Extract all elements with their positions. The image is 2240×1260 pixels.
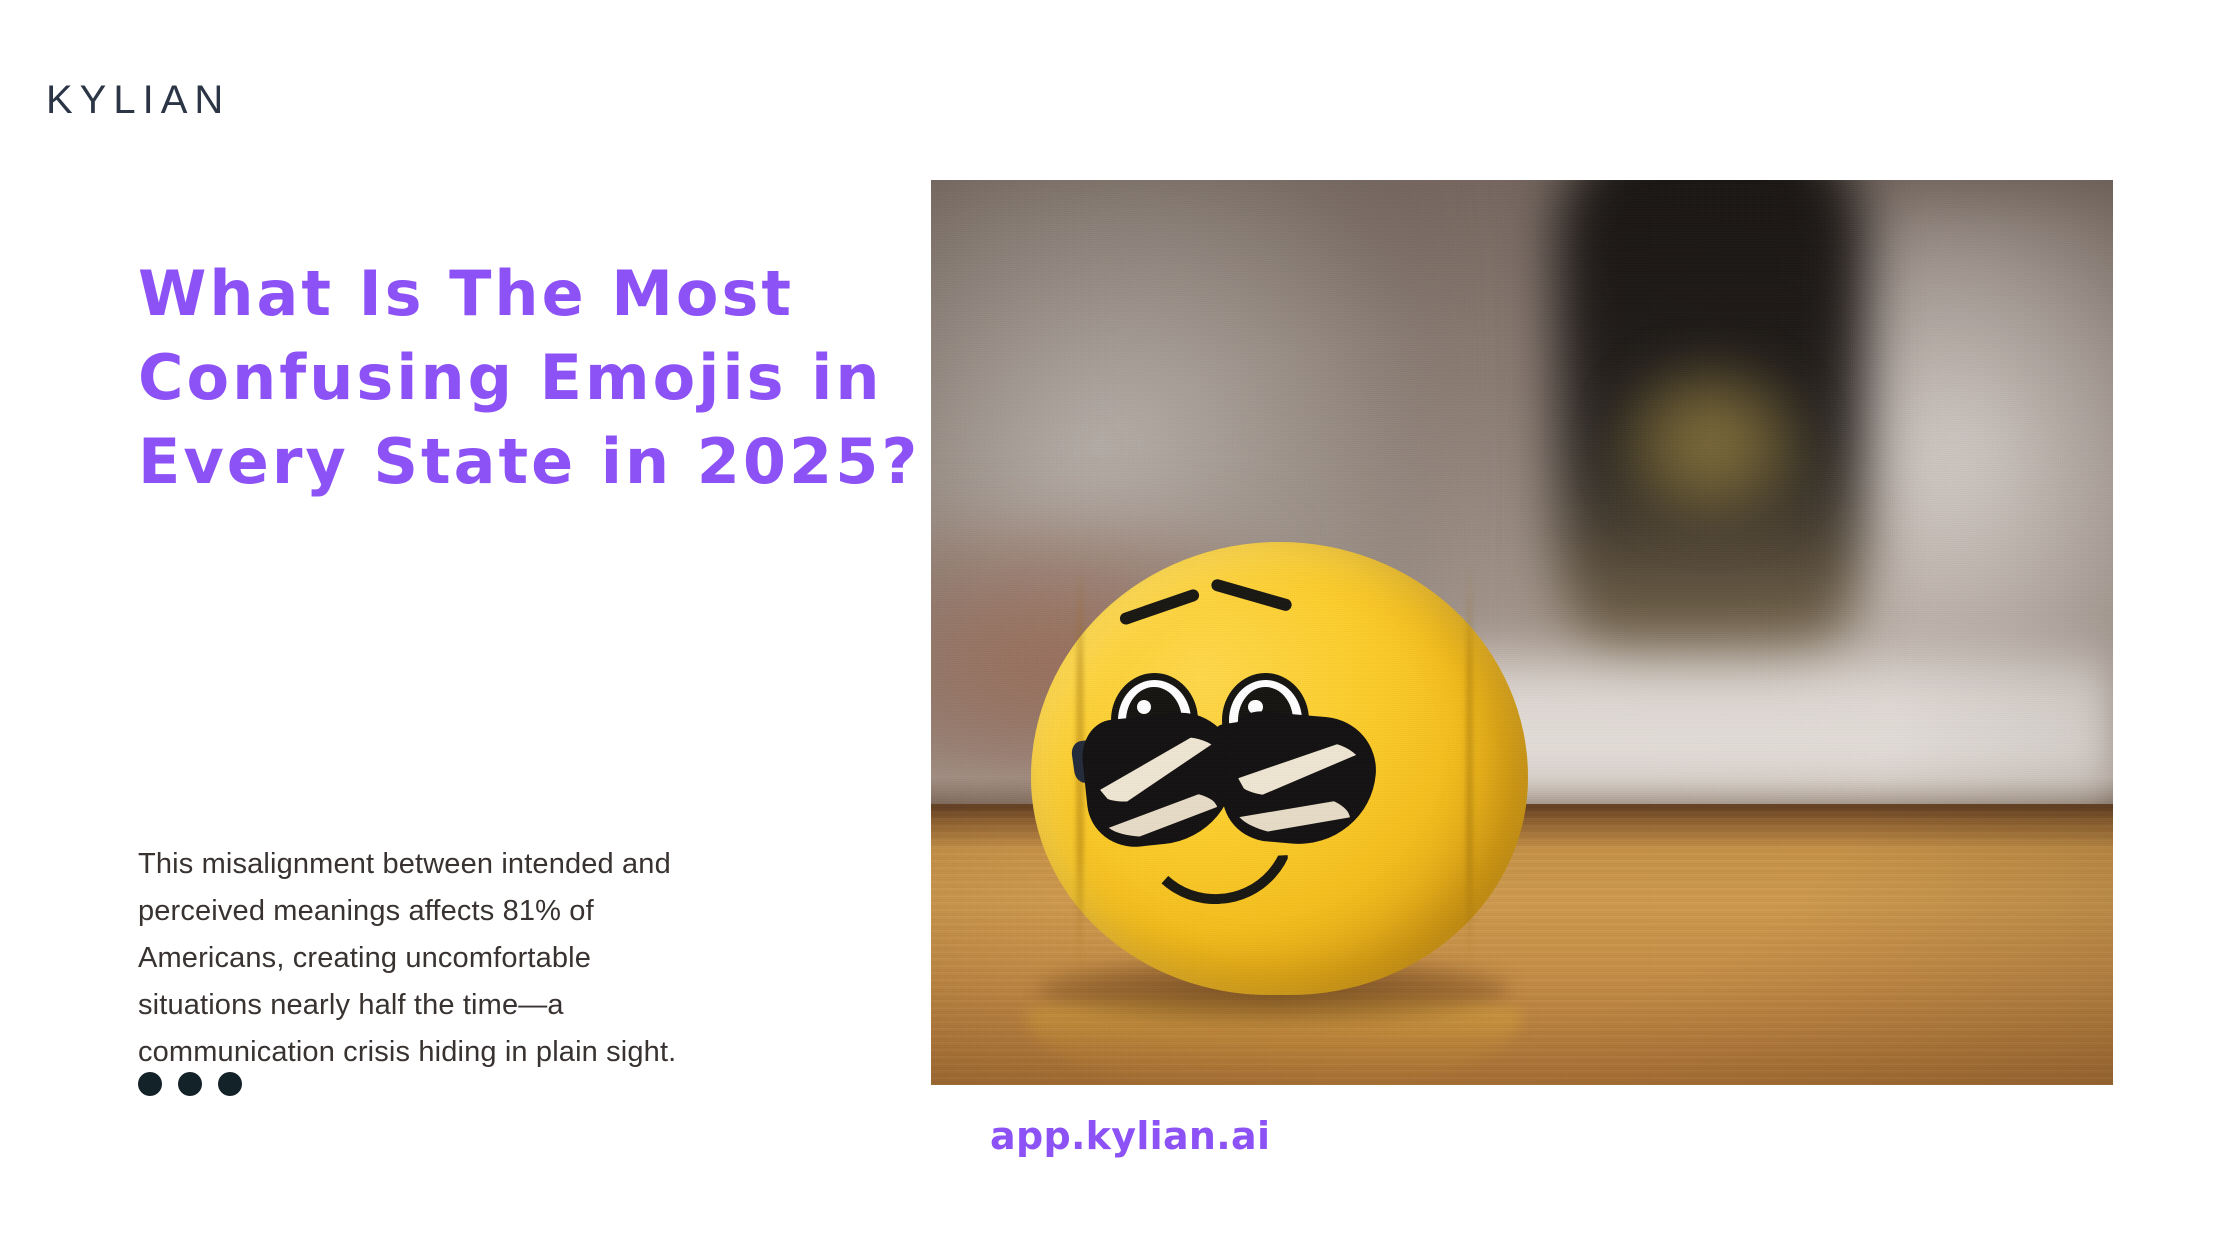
page-title: What Is The Most Confusing Emojis in Eve… <box>138 252 938 505</box>
photo-background-bottle-label <box>1617 361 1806 524</box>
dot-icon <box>218 1072 242 1096</box>
body-paragraph: This misalignment between intended and p… <box>138 841 778 1076</box>
dot-icon <box>178 1072 202 1096</box>
photo-background-cabinet <box>1427 633 2113 814</box>
dot-decoration <box>138 1072 242 1096</box>
lens-shine-right <box>1235 736 1366 801</box>
dot-icon <box>138 1072 162 1096</box>
slide-canvas: KYLIAN What Is The Most Confusing Emojis… <box>0 0 2240 1260</box>
hero-photo <box>931 180 2113 1085</box>
brand-logo[interactable]: KYLIAN <box>46 80 230 120</box>
site-url-link[interactable]: app.kylian.ai <box>990 1114 1270 1158</box>
photo-scene <box>931 180 2113 1085</box>
